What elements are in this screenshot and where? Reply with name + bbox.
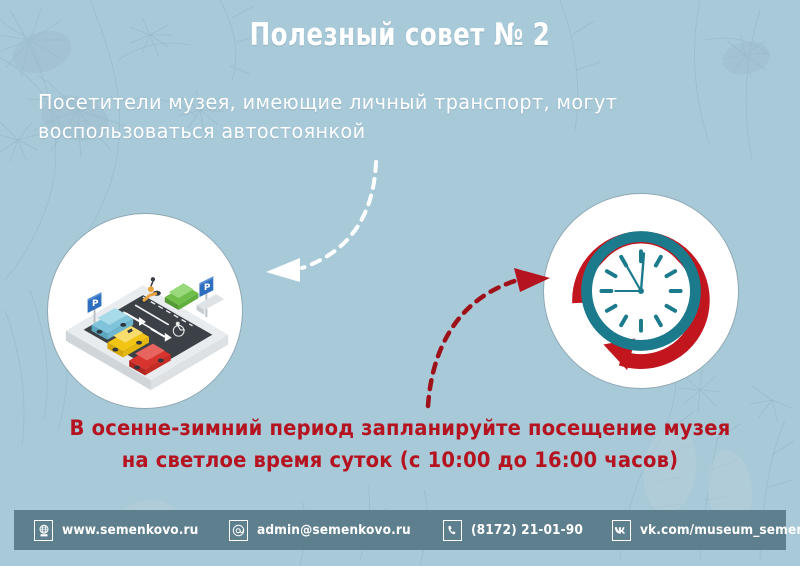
poster-title: Полезный совет № 2: [48, 18, 752, 52]
globe-icon: [34, 520, 53, 541]
phone-icon: [443, 520, 462, 541]
highlight-line-2: на светлое время суток (с 10:00 до 16:00…: [28, 445, 772, 477]
arrow-to-clock-icon: [398, 248, 568, 413]
highlight-line-1: В осенне-зимний период запланируйте посе…: [28, 413, 772, 445]
highlight-message: В осенне-зимний период запланируйте посе…: [28, 413, 772, 477]
contact-vk[interactable]: vk.com/museum_semenkovo: [612, 520, 800, 541]
contact-website[interactable]: www.semenkovo.ru: [34, 520, 207, 541]
contact-phone-label: (8172) 21-01-90: [471, 523, 583, 538]
parking-illustration: P P: [47, 213, 243, 409]
contact-website-label: www.semenkovo.ru: [62, 523, 198, 538]
footer-contact-bar: www.semenkovo.ru admin@semenkovo.ru (817…: [14, 510, 786, 550]
vk-icon: [612, 520, 631, 541]
svg-text:P: P: [92, 299, 99, 309]
poster-canvas: Полезный совет № 2 Посетители музея, име…: [0, 0, 800, 566]
contact-email-label: admin@semenkovo.ru: [257, 523, 411, 538]
arrow-to-parking-icon: [258, 150, 408, 300]
contact-email[interactable]: admin@semenkovo.ru: [229, 520, 421, 541]
email-icon: [229, 520, 248, 541]
clock-illustration: [543, 193, 739, 389]
poster-subtitle: Посетители музея, имеющие личный транспо…: [38, 88, 729, 146]
svg-text:P: P: [204, 283, 211, 293]
contact-vk-label: vk.com/museum_semenkovo: [640, 523, 800, 538]
contact-phone[interactable]: (8172) 21-01-90: [443, 520, 590, 541]
